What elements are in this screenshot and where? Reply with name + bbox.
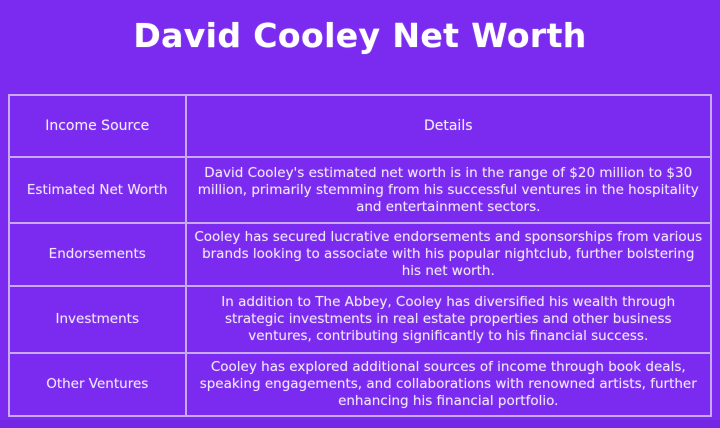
net-worth-infographic: David Cooley Net Worth Income Source Det… — [0, 0, 720, 428]
row-label-other-ventures: Other Ventures — [9, 353, 186, 416]
row-details-estimated-net-worth: David Cooley's estimated net worth is in… — [186, 157, 712, 222]
row-details-endorsements: Cooley has secured lucrative endorsement… — [186, 223, 712, 286]
row-details-investments: In addition to The Abbey, Cooley has div… — [186, 286, 712, 352]
table-row: Investments In addition to The Abbey, Co… — [9, 286, 711, 352]
table-row: Endorsements Cooley has secured lucrativ… — [9, 223, 711, 286]
page-title: David Cooley Net Worth — [0, 16, 720, 56]
row-label-endorsements: Endorsements — [9, 223, 186, 286]
table-header-row: Income Source Details — [9, 95, 711, 157]
income-table-container: Income Source Details Estimated Net Wort… — [8, 94, 712, 417]
income-sources-table: Income Source Details Estimated Net Wort… — [8, 94, 712, 417]
table-row: Other Ventures Cooley has explored addit… — [9, 353, 711, 416]
table-row: Estimated Net Worth David Cooley's estim… — [9, 157, 711, 222]
column-header-income-source: Income Source — [9, 95, 186, 157]
bottom-accent-band — [0, 420, 720, 428]
row-label-investments: Investments — [9, 286, 186, 352]
row-label-estimated-net-worth: Estimated Net Worth — [9, 157, 186, 222]
row-details-other-ventures: Cooley has explored additional sources o… — [186, 353, 712, 416]
column-header-details: Details — [186, 95, 712, 157]
